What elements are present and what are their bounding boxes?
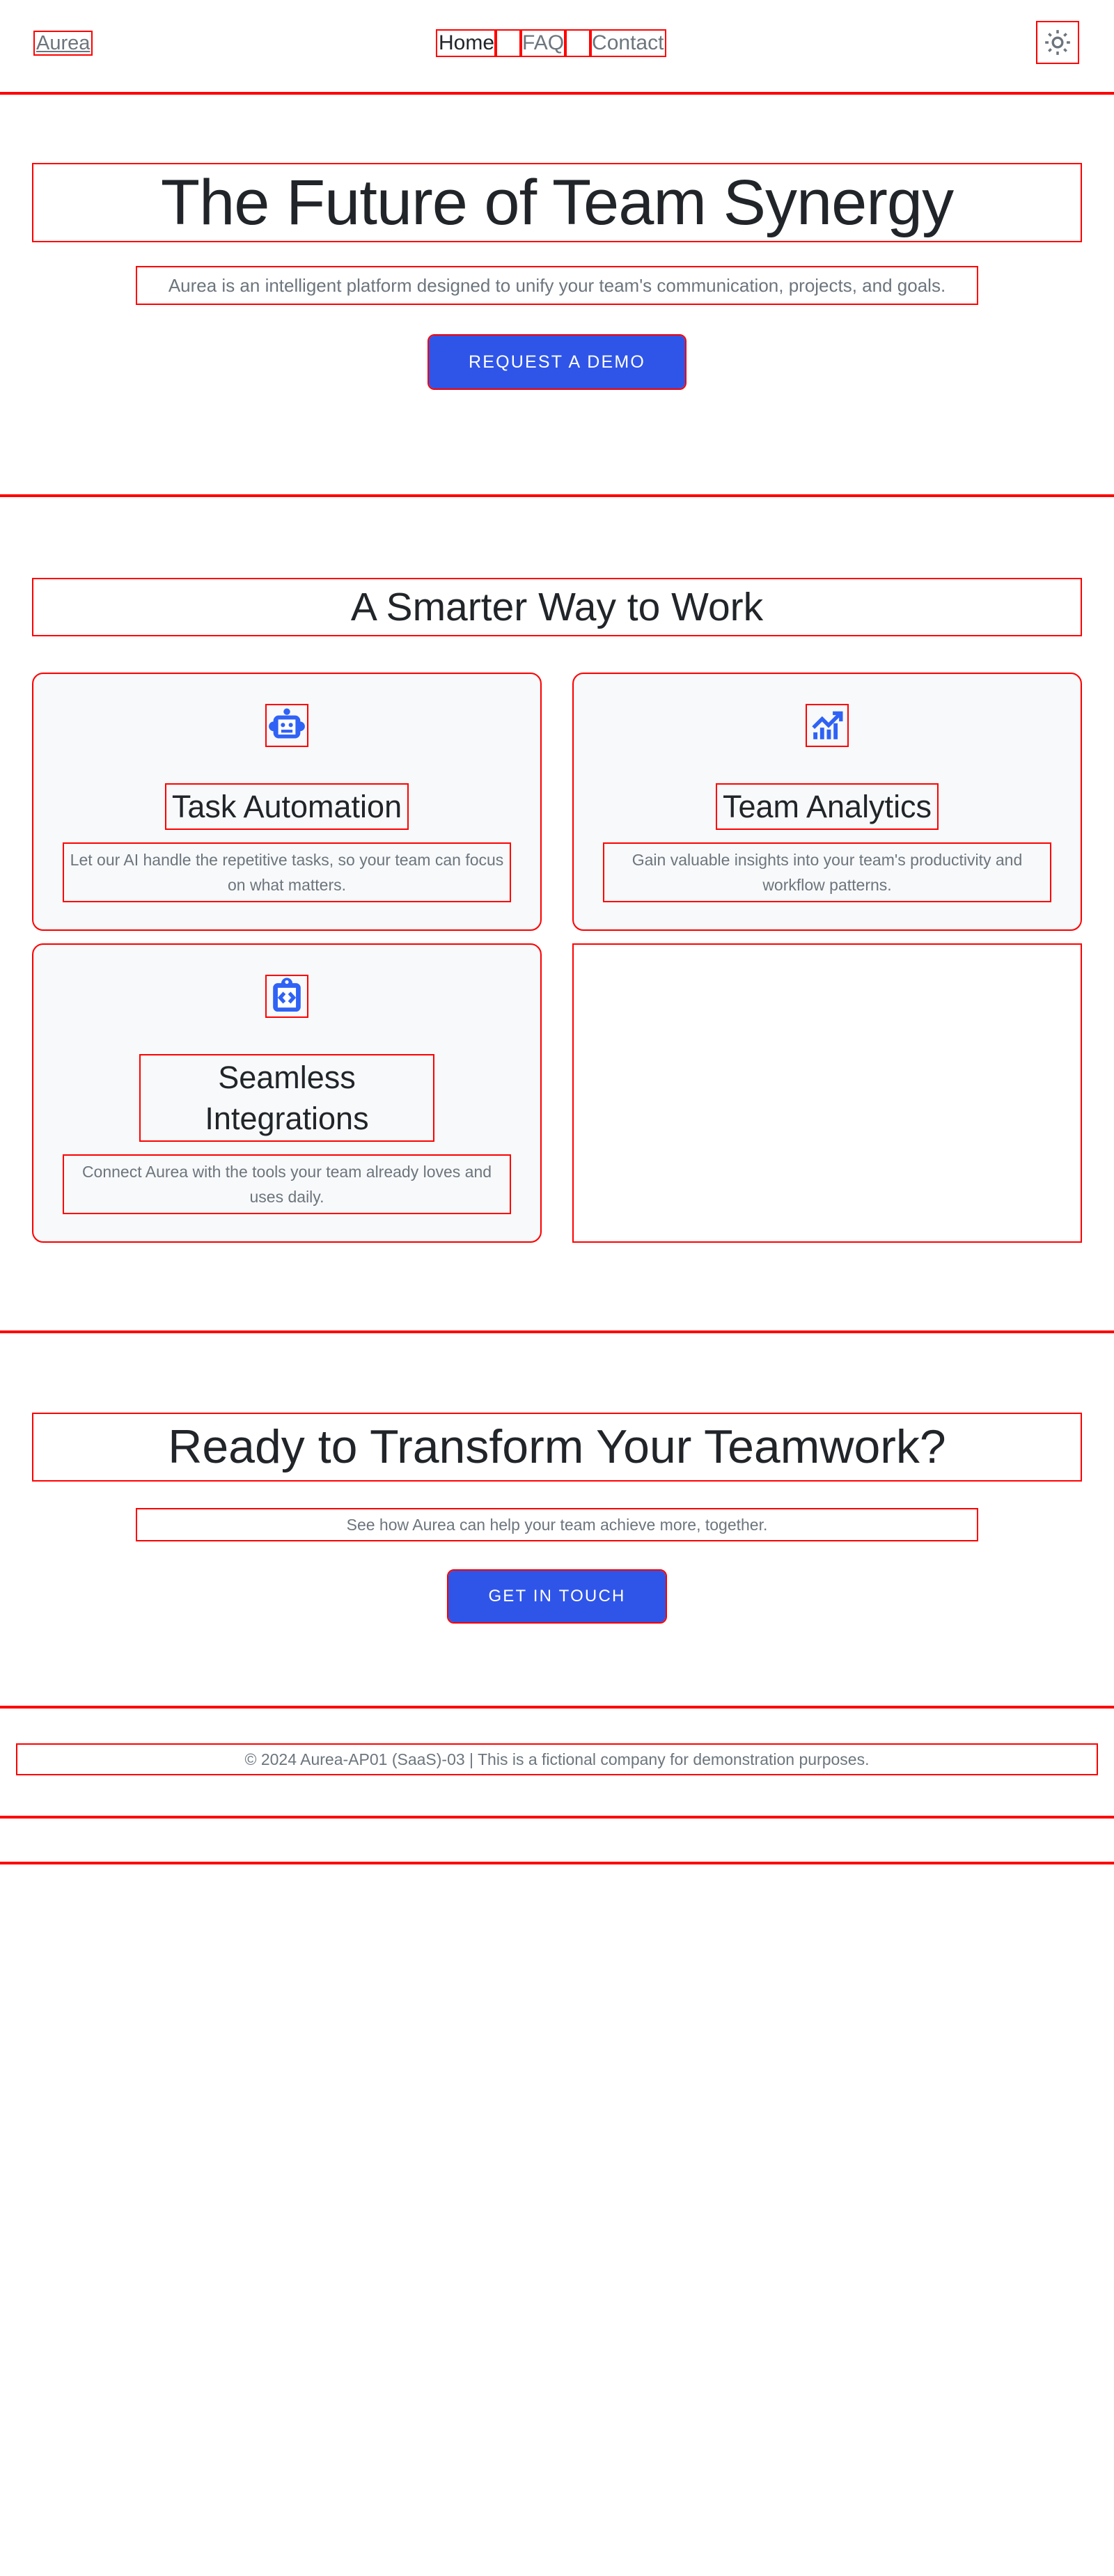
features-grid-empty-cell — [574, 945, 1081, 1241]
chart-trending-up-icon-wrapper — [807, 705, 847, 746]
feature-card-title: Seamless Integrations — [141, 1055, 433, 1140]
robot-icon-wrapper — [267, 705, 307, 746]
feature-card-description: Let our AI handle the repetitive tasks, … — [64, 844, 510, 901]
hero-cta-wrapper: REQUEST A DEMO — [0, 336, 1114, 388]
nav-link-contact[interactable]: Contact — [590, 31, 665, 56]
brand-logo-link[interactable]: Aurea — [35, 32, 91, 54]
main-navigation: Home FAQ Contact — [437, 31, 665, 56]
hero-subtitle-wrapper: Aurea is an intelligent platform designe… — [0, 267, 1114, 304]
cta-subtitle: See how Aurea can help your team achieve… — [137, 1509, 977, 1540]
site-footer: © 2024 Aurea-AP01 (SaaS)-03 | This is a … — [0, 1709, 1114, 1819]
features-section: A Smarter Way to Work Task Automation Le… — [0, 497, 1114, 1333]
nav-link-faq[interactable]: FAQ — [521, 31, 565, 56]
theme-toggle-wrapper — [1037, 22, 1078, 63]
get-in-touch-button[interactable]: GET IN TOUCH — [448, 1571, 666, 1622]
chart-trending-up-icon — [808, 707, 846, 744]
hero-title: The Future of Team Synergy — [33, 164, 1081, 241]
feature-card-description: Gain valuable insights into your team's … — [604, 844, 1050, 901]
cta-section: Ready to Transform Your Teamwork? See ho… — [0, 1333, 1114, 1709]
sun-icon — [1044, 29, 1072, 56]
site-header: Aurea Home FAQ Contact — [0, 0, 1114, 95]
cta-heading-wrapper: Ready to Transform Your Teamwork? — [0, 1414, 1114, 1480]
feature-card-team-analytics[interactable]: Team Analytics Gain valuable insights in… — [574, 674, 1081, 929]
feature-card-task-automation[interactable]: Task Automation Let our AI handle the re… — [33, 674, 540, 929]
theme-toggle-button[interactable] — [1037, 22, 1078, 63]
footer-copyright-text: © 2024 Aurea-AP01 (SaaS)-03 | This is a … — [17, 1745, 1097, 1774]
feature-card-seamless-integrations[interactable]: Seamless Integrations Connect Aurea with… — [33, 945, 540, 1241]
request-demo-button[interactable]: REQUEST A DEMO — [429, 336, 685, 388]
page-bottom-rule — [0, 1862, 1114, 1864]
hero-section: The Future of Team Synergy Aurea is an i… — [0, 95, 1114, 497]
brand-wrapper: Aurea — [35, 31, 91, 56]
hero-subtitle: Aurea is an intelligent platform designe… — [137, 267, 977, 304]
feature-card-title: Task Automation — [166, 785, 407, 828]
clipboard-code-icon — [268, 977, 306, 1015]
cta-heading: Ready to Transform Your Teamwork? — [33, 1414, 1081, 1480]
features-heading: A Smarter Way to Work — [33, 579, 1081, 635]
nav-separator-1 — [496, 31, 521, 56]
nav-link-home[interactable]: Home — [437, 31, 496, 56]
feature-card-title: Team Analytics — [717, 785, 937, 828]
features-grid: Task Automation Let our AI handle the re… — [33, 674, 1081, 1241]
nav-separator-2 — [565, 31, 590, 56]
cta-subtitle-wrapper: See how Aurea can help your team achieve… — [0, 1509, 1114, 1540]
cta-button-wrapper: GET IN TOUCH — [0, 1571, 1114, 1622]
features-heading-wrapper: A Smarter Way to Work — [0, 579, 1114, 635]
clipboard-code-icon-wrapper — [267, 976, 307, 1016]
robot-icon — [268, 707, 306, 744]
feature-card-description: Connect Aurea with the tools your team a… — [64, 1156, 510, 1213]
